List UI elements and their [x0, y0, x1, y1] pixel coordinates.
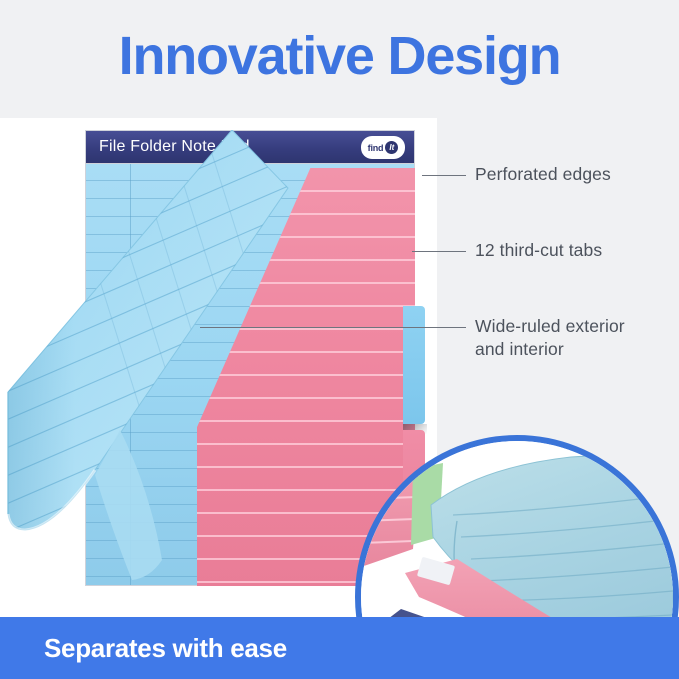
leader-line-2: [412, 251, 466, 252]
annotation-wide-ruled: Wide-ruled exterior and interior: [475, 315, 625, 361]
page-title: Innovative Design: [0, 24, 679, 88]
caption-text: Separates with ease: [44, 633, 287, 664]
brand-mark-icon: It: [385, 141, 398, 154]
annotation-third-cut-tabs: 12 third-cut tabs: [475, 239, 602, 262]
annotation-perforated-edges: Perforated edges: [475, 163, 611, 186]
product-feature-graphic: Innovative Design: [0, 0, 679, 679]
leader-line-1: [422, 175, 466, 176]
find-it-logo: find It: [361, 136, 405, 159]
leader-line-3: [200, 327, 466, 328]
product-name-label: File Folder Note Pad: [99, 138, 250, 156]
brand-name-text: find: [368, 143, 384, 153]
tab-blue: [403, 306, 425, 424]
product-header-band: File Folder Note Pad find It: [85, 130, 415, 164]
bottom-caption-banner: Separates with ease: [0, 617, 679, 679]
